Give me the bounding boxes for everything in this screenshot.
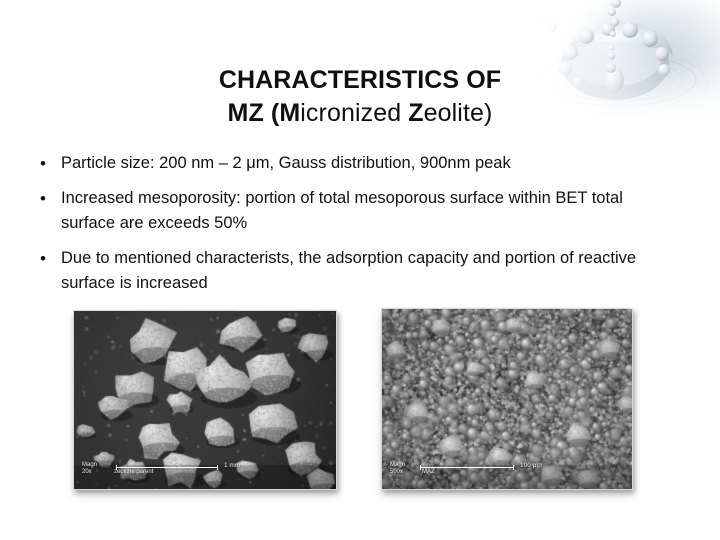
title-m-bold: M <box>279 99 300 127</box>
sem-image-micronized-zeolite: Magn 500x MAZ 100 μm <box>381 308 633 490</box>
bullet-text-2: Increased mesoporosity: portion of total… <box>61 186 672 236</box>
title-z-bold: Z <box>408 99 423 127</box>
slide-title: CHARACTERISTICS OF MZ (Micronized Zeolit… <box>0 64 720 130</box>
slide-canvas: CHARACTERISTICS OF MZ (Micronized Zeolit… <box>0 0 720 540</box>
sem-image-zeolite-parent: Magn 20x zeolithe parent 1 mm <box>73 310 337 490</box>
bullet-text-3: Due to mentioned characterists, the adso… <box>61 246 672 296</box>
title-eolite: eolite) <box>424 99 493 127</box>
bullet-item-1: • Particle size: 200 nm – 2 μm, Gauss di… <box>36 151 672 176</box>
bullet-item-3: • Due to mentioned characterists, the ad… <box>36 246 672 296</box>
bullet-list: • Particle size: 200 nm – 2 μm, Gauss di… <box>36 151 672 306</box>
bullet-item-2: • Increased mesoporosity: portion of tot… <box>36 186 672 236</box>
bullet-text-1: Particle size: 200 nm – 2 μm, Gauss dist… <box>61 151 672 176</box>
bullet-marker-icon: • <box>36 151 61 176</box>
title-line-1: CHARACTERISTICS OF <box>0 64 720 97</box>
sem-left-canvas <box>74 311 337 490</box>
title-mz: MZ ( <box>228 99 280 127</box>
sem-right-canvas <box>382 309 633 490</box>
title-icronized: icronized <box>300 99 408 127</box>
bullet-marker-icon: • <box>36 246 61 271</box>
bullet-marker-icon: • <box>36 186 61 211</box>
title-line-2: MZ (Micronized Zeolite) <box>0 97 720 130</box>
